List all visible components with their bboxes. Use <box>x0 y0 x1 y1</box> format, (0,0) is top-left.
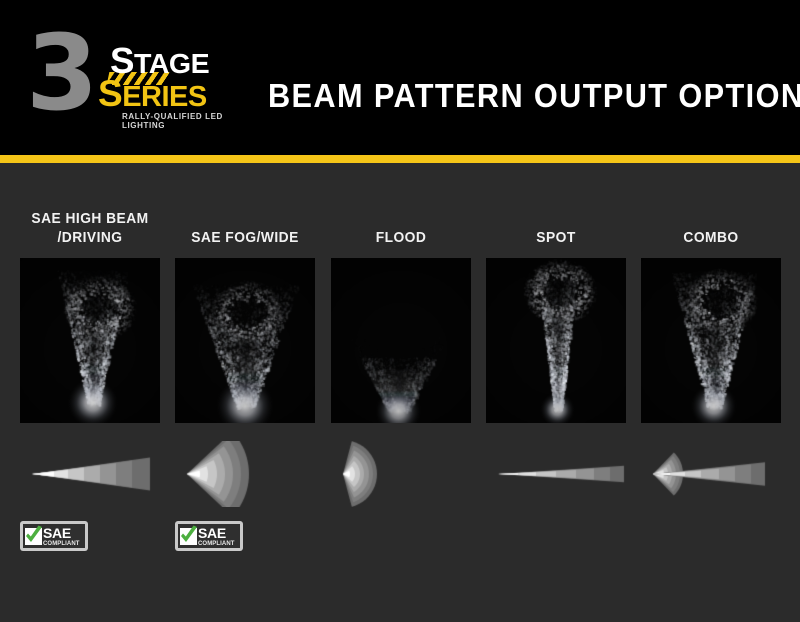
badge-text: SAECOMPLIANT <box>43 526 80 547</box>
beam-label-line: SPOT <box>536 228 575 247</box>
logo-tagline: RALLY-QUALIFIED LED LIGHTING <box>122 112 241 130</box>
logo-numeral-3: 3 <box>26 28 92 118</box>
logo-stage-rest: TAGE <box>134 48 209 79</box>
badge-subtitle: COMPLIANT <box>198 541 235 547</box>
check-icon <box>25 528 42 545</box>
header-bar: 3 STAGE SERIES RALLY-QUALIFIED LED LIGHT… <box>0 0 800 155</box>
logo-series-rest: ERIES <box>122 81 207 113</box>
beam-label-line: SAE FOG/WIDE <box>191 228 298 247</box>
badge-title: SAE <box>43 526 80 540</box>
beam-label-line: FLOOD <box>376 228 427 247</box>
beam-options-grid: SAE HIGH BEAM/DRIVINGSAECOMPLIANTSAE FOG… <box>0 163 800 622</box>
beam-diagram-combo <box>641 441 781 507</box>
beam-column-flood[interactable]: FLOOD <box>331 163 471 622</box>
sae-compliant-badge: SAECOMPLIANT <box>175 521 243 551</box>
beam-label-fog-wide: SAE FOG/WIDE <box>166 185 324 247</box>
beam-column-driving[interactable]: SAE HIGH BEAM/DRIVINGSAECOMPLIANT <box>20 163 160 622</box>
beam-label-line: COMBO <box>683 228 738 247</box>
beam-photo-driving[interactable] <box>20 258 160 423</box>
beam-photo-spot[interactable] <box>486 258 626 423</box>
badge-subtitle: COMPLIANT <box>43 541 80 547</box>
badge-title: SAE <box>198 526 235 540</box>
beam-photo-flood[interactable] <box>331 258 471 423</box>
logo-series-cap: S <box>98 73 122 114</box>
beam-label-flood: FLOOD <box>322 185 480 247</box>
beam-photo-fog-wide[interactable] <box>175 258 315 423</box>
beam-diagram-driving <box>20 441 160 507</box>
beam-label-driving: SAE HIGH BEAM/DRIVING <box>11 185 169 247</box>
beam-label-line: SAE HIGH BEAM <box>31 209 148 228</box>
logo-word-series: SERIES <box>98 79 207 112</box>
beam-diagram-flood <box>331 441 471 507</box>
page-title: BEAM PATTERN OUTPUT OPTIONS <box>268 78 800 114</box>
sae-compliant-badge: SAECOMPLIANT <box>20 521 88 551</box>
beam-column-fog-wide[interactable]: SAE FOG/WIDESAECOMPLIANT <box>175 163 315 622</box>
beam-diagram-fog-wide <box>175 441 315 507</box>
badge-text: SAECOMPLIANT <box>198 526 235 547</box>
beam-column-combo[interactable]: COMBO <box>641 163 781 622</box>
beam-column-spot[interactable]: SPOT <box>486 163 626 622</box>
beam-label-spot: SPOT <box>477 185 635 247</box>
check-icon <box>180 528 197 545</box>
badge-inner: SAECOMPLIANT <box>23 524 85 548</box>
logo-word-stage: STAGE <box>110 47 209 78</box>
brand-logo: 3 STAGE SERIES RALLY-QUALIFIED LED LIGHT… <box>26 28 241 128</box>
beam-label-combo: COMBO <box>632 185 790 247</box>
header-divider <box>0 155 800 163</box>
beam-photo-combo[interactable] <box>641 258 781 423</box>
beam-label-line: /DRIVING <box>31 228 148 247</box>
badge-inner: SAECOMPLIANT <box>178 524 240 548</box>
beam-diagram-spot <box>486 441 626 507</box>
